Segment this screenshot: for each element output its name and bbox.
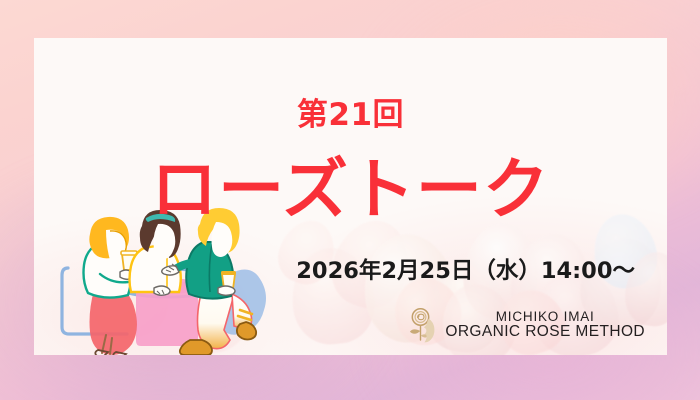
brand-tagline: ORGANIC ROSE METHOD xyxy=(445,324,645,340)
rose-woman-logo-icon xyxy=(408,307,438,343)
brand-name: MICHIKO IMAI xyxy=(496,310,595,324)
event-datetime: 2026年2月25日（水）14:00〜 xyxy=(296,260,635,283)
brand-logo-text: MICHIKO IMAI ORGANIC ROSE METHOD xyxy=(445,310,645,341)
event-banner: 第21回 ローズトーク 2026年2月25日（水）14:00〜 xyxy=(0,0,700,400)
page-title: ローズトーク xyxy=(34,157,667,223)
brand-logo: MICHIKO IMAI ORGANIC ROSE METHOD xyxy=(408,307,645,343)
banner-card: 第21回 ローズトーク 2026年2月25日（水）14:00〜 xyxy=(34,38,667,355)
edition-label: 第21回 xyxy=(34,100,667,131)
